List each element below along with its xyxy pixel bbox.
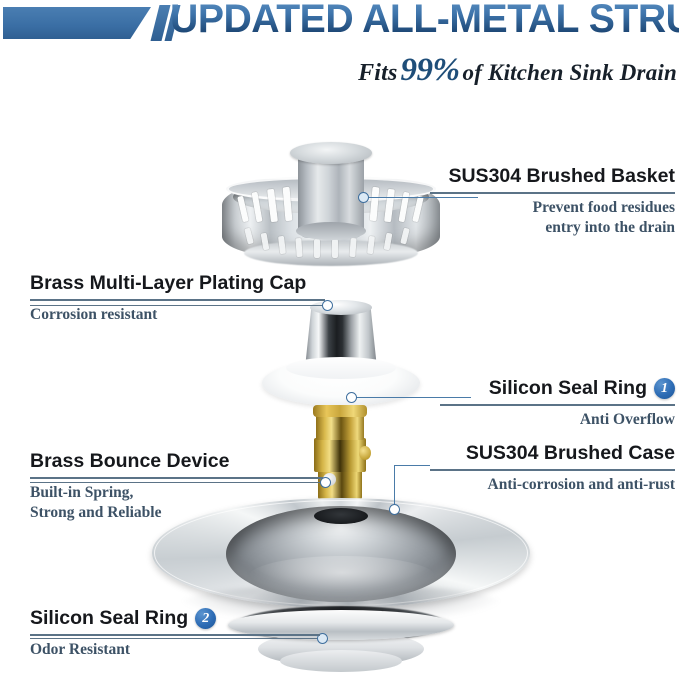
- leader-dot-seal1: [346, 392, 357, 403]
- callout-subtitle-line1: Prevent food residues: [430, 198, 675, 218]
- callout-subtitle-line1: Anti Overflow: [440, 410, 675, 430]
- basket-slots: [222, 176, 440, 262]
- callout-rule: [430, 469, 675, 471]
- callout-subtitle-line1: Built-in Spring,: [30, 483, 230, 503]
- seal-ring-upper-top: [286, 357, 396, 379]
- callout-brass-bounce-device: Brass Bounce Device Built-in Spring, Str…: [30, 451, 230, 523]
- page-title: UPDATED ALL-METAL STRUCTURE: [170, 0, 679, 42]
- status-badge-1: 1: [654, 378, 675, 399]
- callout-sus304-brushed-basket: SUS304 Brushed Basket Prevent food resid…: [430, 166, 675, 238]
- callout-title-text: SUS304 Brushed Basket: [448, 166, 675, 187]
- callout-title-text: Brass Multi-Layer Plating Cap: [30, 273, 306, 294]
- callout-silicon-seal-ring-1: Silicon Seal Ring 1 Anti Overflow: [440, 378, 675, 430]
- callout-title-text: Silicon Seal Ring: [30, 608, 188, 629]
- callout-title-text: Brass Bounce Device: [30, 451, 229, 472]
- plating-cap-graphic: [299, 300, 383, 372]
- strainer-basket-graphic: [222, 176, 440, 272]
- header: UPDATED ALL-METAL STRUCTURE: [0, 0, 679, 46]
- callout-rule: [30, 299, 325, 301]
- infographic-canvas: UPDATED ALL-METAL STRUCTURE Fits99%of Ki…: [0, 0, 679, 676]
- leader-dot-case: [389, 504, 400, 515]
- callout-silicon-seal-ring-2: Silicon Seal Ring 2 Odor Resistant: [30, 608, 230, 660]
- callout-subtitle-line1: Anti-corrosion and anti-rust: [430, 475, 675, 495]
- callout-brass-multi-layer-plating-cap: Brass Multi-Layer Plating Cap Corrosion …: [30, 273, 295, 325]
- leader-dot-cap: [322, 300, 333, 311]
- leader-line-case-h: [394, 465, 430, 466]
- status-badge-2: 2: [195, 608, 216, 629]
- subtitle-percent: 99%: [398, 52, 463, 88]
- callout-rule: [430, 192, 675, 194]
- callout-title: Brass Multi-Layer Plating Cap: [30, 273, 295, 294]
- leader-line-case-v: [394, 465, 395, 509]
- callout-title: Silicon Seal Ring 1: [440, 378, 675, 399]
- callout-rule: [440, 404, 675, 406]
- callout-subtitle-line2: Strong and Reliable: [30, 503, 230, 523]
- header-subtitle: Fits99%of Kitchen Sink Drain: [358, 52, 677, 89]
- callout-title: SUS304 Brushed Case: [430, 443, 675, 464]
- callout-subtitle-line1: Odor Resistant: [30, 640, 230, 660]
- callout-title-text: SUS304 Brushed Case: [466, 443, 675, 464]
- callout-rule: [30, 634, 320, 636]
- callout-subtitle-line2: entry into the drain: [430, 218, 675, 238]
- subtitle-lead: Fits: [358, 60, 397, 86]
- bounce-device-graphic: [307, 405, 373, 513]
- callout-title: SUS304 Brushed Basket: [430, 166, 675, 187]
- callout-subtitle-line1: Corrosion resistant: [30, 305, 295, 325]
- product-exploded-view: [0, 0, 679, 676]
- callout-title: Brass Bounce Device: [30, 451, 230, 472]
- brand-slash-mark-icon: [3, 5, 179, 41]
- callout-title-text: Silicon Seal Ring: [489, 378, 647, 399]
- callout-title: Silicon Seal Ring 2: [30, 608, 230, 629]
- subtitle-tail: of Kitchen Sink Drain: [463, 60, 677, 85]
- seal-ring-upper-graphic: [262, 360, 420, 406]
- callout-sus304-brushed-case: SUS304 Brushed Case Anti-corrosion and a…: [430, 443, 675, 495]
- callout-rule: [30, 477, 323, 479]
- leader-dot-basket: [358, 192, 369, 203]
